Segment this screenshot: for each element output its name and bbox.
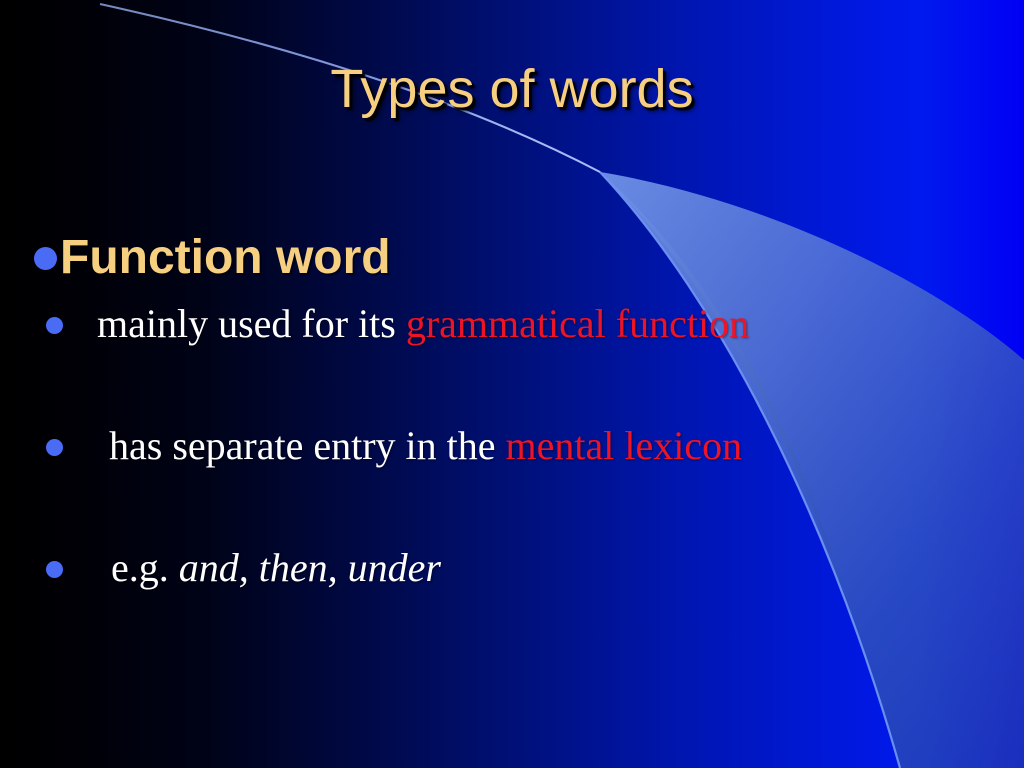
round-bullet-icon (34, 247, 57, 270)
bullet-item-function-word: Function word (34, 228, 994, 290)
bullet-level2-label: mainly used for its grammatical function (97, 296, 749, 352)
slide-body: Function word mainly used for its gramma… (34, 228, 994, 602)
round-bullet-icon (46, 317, 63, 334)
round-bullet-icon (46, 561, 63, 578)
bullet-level2-label: e.g. and, then, under (111, 540, 441, 596)
bullet-item-examples: e.g. and, then, under (34, 540, 994, 602)
text-segment-plain: e.g. (111, 545, 179, 590)
slide-title: Types of words (0, 58, 1024, 120)
text-segment-highlight: grammatical function (406, 301, 749, 346)
presentation-slide: Types of words Function word mainly used… (0, 0, 1024, 768)
round-bullet-icon (46, 439, 63, 456)
bullet-level2-label: has separate entry in the mental lexicon (109, 418, 742, 474)
text-segment-plain: has separate entry in the (109, 423, 506, 468)
text-segment-highlight: mental lexicon (506, 423, 743, 468)
text-segment-italic: and, then, under (179, 545, 441, 590)
bullet-item-grammatical-function: mainly used for its grammatical function (34, 296, 994, 358)
text-segment-plain: mainly used for its (97, 301, 406, 346)
bullet-level1-label: Function word (60, 228, 391, 288)
bullet-item-mental-lexicon: has separate entry in the mental lexicon (34, 418, 994, 480)
